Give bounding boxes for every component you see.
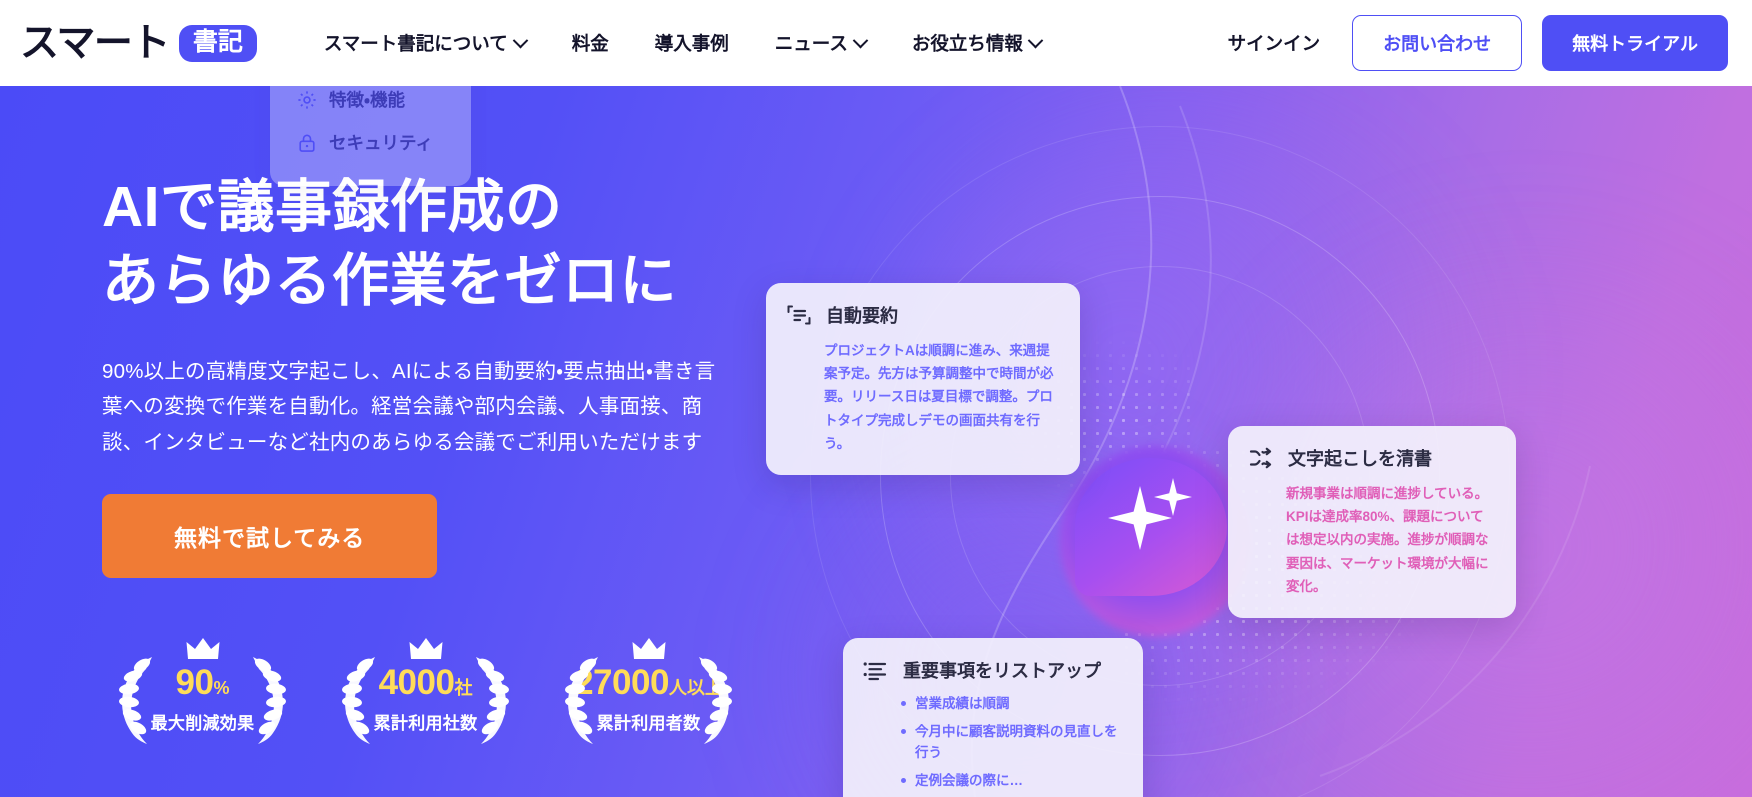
nav-item-about[interactable]: スマート書記について	[301, 20, 549, 66]
card-header: 文字起こしを清書	[1248, 445, 1494, 471]
chevron-down-icon	[512, 32, 528, 48]
nav-item-pricing[interactable]: 料金	[549, 20, 632, 66]
nav-item-case-studies[interactable]: 導入事例	[632, 20, 752, 66]
gear-icon	[296, 89, 318, 111]
card-header: 自動要約	[786, 302, 1058, 328]
stat-label: 最大削減効果	[151, 709, 255, 734]
laurel-left-icon	[548, 653, 604, 745]
card-header: 重要事項をリストアップ	[863, 657, 1121, 683]
stat-item: 27000人以上 累計利用者数	[546, 631, 751, 746]
header-actions: サインイン お問い合わせ 無料トライアル	[1216, 15, 1728, 71]
feature-card-transcript: 文字起こしを清書 新規事業は順調に進捗している。KPIは達成率80%、課題につい…	[1228, 426, 1516, 618]
chevron-down-icon	[853, 32, 869, 48]
contact-button[interactable]: お問い合わせ	[1352, 15, 1522, 71]
dropdown-item-label: セキュリティ	[329, 130, 433, 155]
stat-number: 90%	[176, 665, 230, 700]
hero-headline: AIで議事録作成の あらゆる作業をゼロに	[102, 170, 762, 318]
card-body-text: 新規事業は順調に進捗している。KPIは達成率80%、課題については想定以内の実施…	[1248, 482, 1494, 598]
lock-icon	[296, 132, 318, 154]
hero-subcopy: 90%以上の高精度文字起こし、AIによる自動要約・要点抽出・書き言葉への変換で作…	[102, 354, 722, 460]
laurel-left-icon	[102, 653, 158, 745]
card-title: 自動要約	[826, 302, 898, 328]
hero-cta-button[interactable]: 無料で試してみる	[102, 494, 437, 578]
signin-link[interactable]: サインイン	[1216, 22, 1333, 64]
list-item: 今月中に顧客説明資料の見直しを行う	[901, 722, 1121, 764]
stat-label: 累計利用者数	[597, 709, 701, 734]
stat-label: 累計利用社数	[374, 709, 478, 734]
feature-card-summary: 自動要約 プロジェクトAは順調に進み、来週提案予定。先方は予算調整中で時間が必要…	[766, 283, 1080, 475]
hero-section: AIで議事録作成の あらゆる作業をゼロに 90%以上の高精度文字起こし、AIによ…	[0, 86, 1752, 797]
site-header: スマート 書記 スマート書記について 料金 導入事例 ニュース お役立ち情報	[0, 0, 1752, 86]
nav-item-label: お役立ち情報	[912, 30, 1023, 56]
landing-page: スマート 書記 スマート書記について 料金 導入事例 ニュース お役立ち情報	[0, 0, 1752, 797]
list-item: 営業成績は順調	[901, 694, 1121, 715]
logo-badge: 書記	[179, 25, 257, 62]
logo-text: スマート	[20, 24, 169, 63]
bullet-point-icon	[901, 778, 906, 783]
nav-item-label: ニュース	[775, 30, 848, 56]
stat-value: 4000	[379, 663, 455, 702]
laurel-left-icon	[325, 653, 381, 745]
stat-item: 90% 最大削減効果	[100, 631, 305, 746]
list-item-label: 営業成績は順調	[915, 694, 1010, 715]
dropdown-item-label: 特徴・機能	[329, 87, 405, 112]
list-item-label: 今月中に顧客説明資料の見直しを行う	[915, 722, 1121, 764]
stat-unit: %	[213, 678, 229, 698]
free-trial-button[interactable]: 無料トライアル	[1542, 15, 1728, 71]
card-body-list: 営業成績は順調 今月中に顧客説明資料の見直しを行う 定例会議の際に…	[863, 694, 1121, 792]
nav-item-label: 導入事例	[655, 30, 729, 56]
stat-value: 90	[176, 663, 214, 702]
main-navigation: スマート書記について 料金 導入事例 ニュース お役立ち情報	[301, 20, 1216, 66]
nav-item-resources[interactable]: お役立ち情報	[889, 20, 1064, 66]
hero-content: AIで議事録作成の あらゆる作業をゼロに 90%以上の高精度文字起こし、AIによ…	[102, 170, 762, 578]
bullet-list-icon	[863, 659, 889, 681]
nav-item-label: スマート書記について	[324, 30, 508, 56]
crown-icon	[632, 637, 666, 661]
crown-icon	[409, 637, 443, 661]
laurel-right-icon	[470, 653, 526, 745]
stat-number: 4000社	[379, 665, 473, 700]
card-title: 文字起こしを清書	[1288, 445, 1432, 471]
summary-quote-icon	[786, 303, 812, 327]
dropdown-item-security[interactable]: セキュリティ	[270, 121, 471, 164]
chevron-down-icon	[1028, 32, 1044, 48]
nav-item-news[interactable]: ニュース	[752, 20, 889, 66]
speech-bubble-shape	[1075, 458, 1227, 596]
crown-icon	[186, 637, 220, 661]
laurel-right-icon	[247, 653, 303, 745]
logo[interactable]: スマート 書記	[20, 24, 257, 63]
stat-item: 4000社 累計利用社数	[323, 631, 528, 746]
shuffle-icon	[1248, 446, 1274, 470]
card-title: 重要事項をリストアップ	[903, 657, 1101, 683]
stats-row: 90% 最大削減効果	[100, 631, 751, 746]
nav-item-label: 料金	[572, 30, 609, 56]
feature-card-list: 重要事項をリストアップ 営業成績は順調 今月中に顧客説明資料の見直しを行う 定例…	[843, 638, 1143, 797]
list-item-label: 定例会議の際に…	[915, 771, 1023, 792]
bullet-point-icon	[901, 729, 906, 734]
card-body-text: プロジェクトAは順調に進み、来週提案予定。先方は予算調整中で時間が必要。リリース…	[786, 339, 1058, 455]
hero-headline-line2: あらゆる作業をゼロに	[102, 249, 677, 313]
list-item: 定例会議の際に…	[901, 771, 1121, 792]
laurel-right-icon	[693, 653, 749, 745]
bullet-point-icon	[901, 701, 906, 706]
